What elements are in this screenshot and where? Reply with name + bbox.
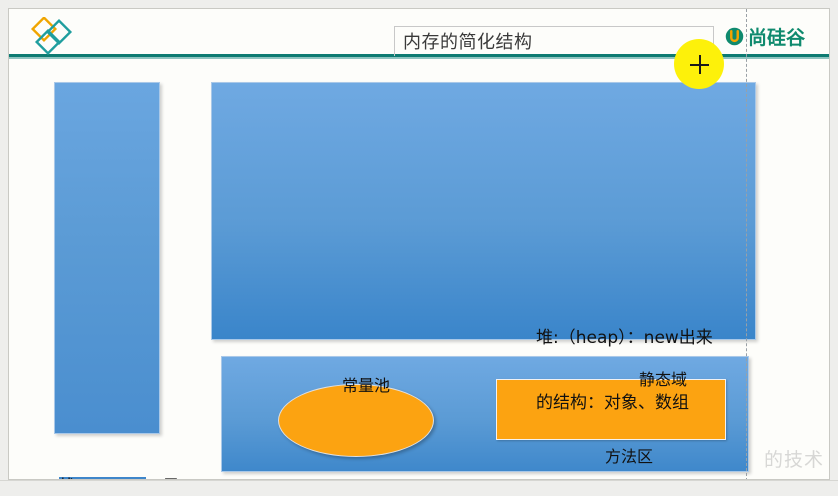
crosshair-cursor-icon bbox=[690, 55, 709, 74]
constant-pool-label: 常量池 bbox=[342, 376, 390, 396]
u-mark-icon bbox=[725, 27, 744, 46]
page-title: 内存的简化结构 bbox=[403, 28, 533, 54]
method-area-label: 方法区 bbox=[605, 447, 653, 467]
screenshot-stage: 内存的简化结构 尚硅谷 堆:（heap）：new出来 的结构：对象、数组 常量池… bbox=[0, 0, 838, 496]
brand-logo: 尚硅谷 bbox=[725, 23, 805, 50]
window-chrome-right bbox=[830, 0, 838, 496]
vertical-guide-line-icon bbox=[746, 9, 747, 480]
title-textbox[interactable]: 内存的简化结构 bbox=[394, 26, 714, 56]
watermark-text: 的技术 bbox=[764, 445, 824, 472]
slide-canvas[interactable]: 内存的简化结构 尚硅谷 堆:（heap）：new出来 的结构：对象、数组 常量池… bbox=[8, 8, 830, 480]
stack-label: 栈: (stack)：局 部变量 bbox=[59, 431, 180, 480]
window-chrome-left bbox=[0, 0, 8, 496]
brand-name: 尚硅谷 bbox=[748, 23, 805, 50]
stack-rectangle[interactable] bbox=[54, 82, 160, 434]
window-chrome-bottom bbox=[0, 480, 838, 496]
heap-label-line1: 堆:（heap）：new出来 bbox=[536, 328, 713, 350]
window-chrome-top bbox=[0, 0, 838, 8]
diamond-logo-icon bbox=[27, 17, 89, 57]
heap-label-line2: 的结构：对象、数组 bbox=[536, 393, 713, 415]
static-area-label: 静态域 bbox=[639, 370, 687, 390]
